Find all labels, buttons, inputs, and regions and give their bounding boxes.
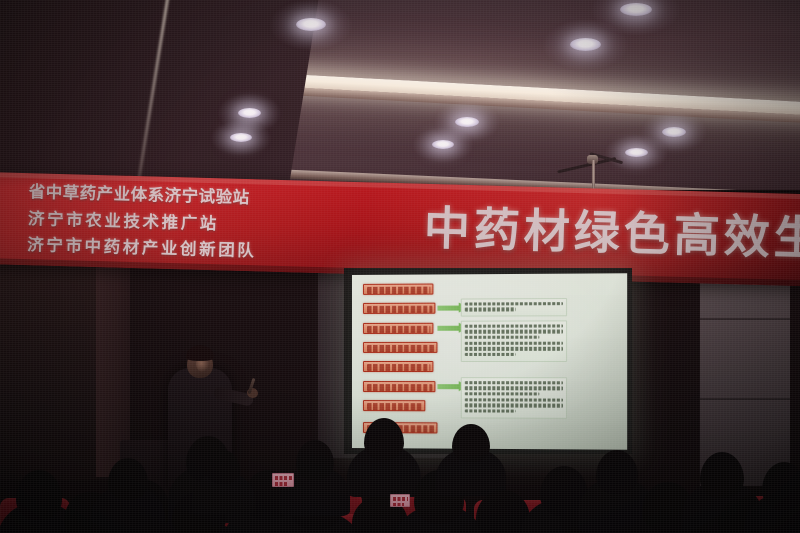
slide-label-text bbox=[367, 403, 423, 410]
audience-head bbox=[364, 418, 404, 460]
ceiling-downlight-icon bbox=[238, 108, 261, 118]
conference-hall-photo: 省中草药产业体系济宁试验站 济宁市农业技术推广站 济宁市中药材产业创新团队 中药… bbox=[0, 0, 800, 533]
slide-label-text bbox=[367, 286, 431, 293]
ceiling-downlight-icon bbox=[455, 117, 479, 127]
name-card-text-line bbox=[393, 497, 408, 501]
slide-text-line bbox=[465, 353, 516, 356]
banner-organizer-lines: 省中草药产业体系济宁试验站 济宁市农业技术推广站 济宁市中药材产业创新团队 bbox=[27, 179, 429, 269]
slide-paragraph bbox=[461, 377, 567, 419]
slide-label-box bbox=[363, 342, 437, 353]
slide-label-box bbox=[363, 361, 433, 372]
ceiling bbox=[0, 0, 800, 190]
ceiling-mount-pole-icon bbox=[592, 160, 595, 190]
slide-text-line bbox=[465, 398, 563, 402]
slide-label-text bbox=[367, 325, 431, 332]
slide-paragraph bbox=[461, 298, 567, 317]
banner-main-title: 中药材绿色高效生 bbox=[423, 198, 800, 269]
ceiling-downlight-icon bbox=[296, 18, 326, 31]
audience-head bbox=[700, 452, 744, 498]
slide-text-line bbox=[465, 381, 563, 385]
slide-label-box bbox=[363, 303, 435, 314]
slide-text-line bbox=[465, 386, 563, 390]
slide-text-line bbox=[465, 336, 539, 340]
wall-panel-seam bbox=[700, 318, 790, 320]
slide-label-box bbox=[363, 284, 433, 295]
ceiling-downlight-icon bbox=[625, 148, 648, 157]
audience-head bbox=[762, 462, 800, 510]
slide-content bbox=[359, 279, 620, 442]
audience-head bbox=[108, 458, 148, 500]
slide-label-box bbox=[363, 400, 425, 411]
slide-arrow-icon bbox=[437, 384, 459, 389]
ceiling-downlight-icon bbox=[570, 38, 601, 51]
ceiling-downlight-icon bbox=[620, 3, 652, 16]
name-card-text-line bbox=[275, 482, 289, 486]
desk-name-card bbox=[390, 494, 410, 507]
desk-name-card bbox=[272, 473, 294, 487]
slide-text-line bbox=[465, 392, 539, 396]
slide-label-text bbox=[367, 384, 433, 391]
slide-text-line bbox=[465, 324, 563, 328]
slide-label-text bbox=[367, 344, 435, 351]
slide-label-box bbox=[363, 323, 433, 334]
slide-arrow-icon bbox=[437, 326, 459, 331]
slide-text-line bbox=[465, 404, 563, 408]
slide-text-line bbox=[465, 330, 563, 334]
audience-head bbox=[596, 450, 638, 494]
slide-label-box bbox=[363, 381, 435, 392]
name-card-text-line bbox=[275, 476, 292, 480]
name-card-text-line bbox=[393, 503, 405, 507]
slide-text-line bbox=[465, 302, 563, 306]
slide-text-line bbox=[465, 341, 563, 345]
audience-head bbox=[452, 424, 490, 462]
audience-head bbox=[296, 440, 334, 480]
audience-head bbox=[206, 450, 240, 484]
slide-text-line bbox=[465, 308, 516, 312]
slide-paragraph bbox=[461, 320, 567, 362]
slide-text-line bbox=[465, 347, 563, 351]
ceiling-downlight-icon bbox=[230, 133, 252, 142]
ceiling-downlight-icon bbox=[662, 127, 686, 137]
ceiling-downlight-icon bbox=[432, 140, 454, 149]
slide-text-line bbox=[465, 409, 516, 413]
slide-arrow-icon bbox=[437, 306, 459, 311]
wall-panel-right bbox=[700, 256, 790, 486]
slide-label-text bbox=[367, 305, 433, 312]
wall-panel-seam bbox=[700, 398, 790, 400]
slide-label-text bbox=[367, 364, 431, 371]
